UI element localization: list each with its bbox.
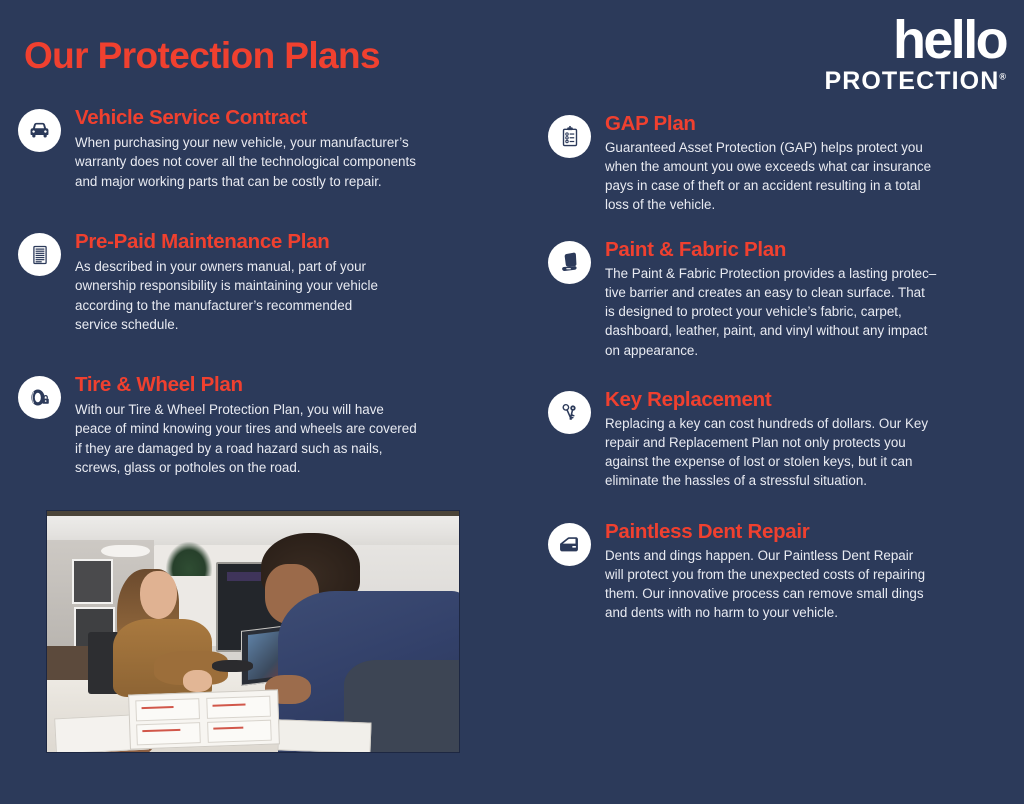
- photo-woman-hand: [183, 670, 212, 692]
- plan-body: Paintless Dent Repair Dents and dings ha…: [605, 521, 1013, 623]
- plan-title: Tire & Wheel Plan: [75, 374, 518, 397]
- protection-plans-page: hello PROTECTION® Our Protection Plans V…: [0, 0, 1024, 804]
- plan-title: Paint & Fabric Plan: [605, 239, 1013, 262]
- photo-content: [47, 511, 459, 752]
- plan-body: Pre-Paid Maintenance Plan As described i…: [75, 231, 518, 335]
- plan-body: Vehicle Service Contract When purchasing…: [75, 107, 518, 191]
- photo-brochure-cell: [136, 722, 201, 745]
- registered-trademark-icon: ®: [999, 72, 1006, 82]
- photo-woman-face: [140, 571, 177, 619]
- plan-title: Paintless Dent Repair: [605, 521, 1013, 544]
- car-front-icon: [18, 109, 61, 152]
- plan-item-tire-and-wheel-plan: Tire & Wheel Plan With our Tire & Wheel …: [18, 374, 518, 478]
- plan-item-paintless-dent-repair: Paintless Dent Repair Dents and dings ha…: [548, 521, 1013, 623]
- plan-title: Pre-Paid Maintenance Plan: [75, 231, 518, 254]
- tire-lock-icon: [18, 376, 61, 419]
- photo-pendant-lamp: [101, 545, 150, 557]
- photo-monitor-glow: [227, 572, 260, 581]
- photo-brochure: [128, 690, 280, 750]
- plan-title: GAP Plan: [605, 113, 1013, 136]
- car-seat-icon: [548, 241, 591, 284]
- photo-brochure-cell: [136, 699, 201, 722]
- plan-description: The Paint & Fabric Protection provides a…: [605, 264, 1013, 360]
- plan-item-paint-and-fabric-plan: Paint & Fabric Plan The Paint & Fabric P…: [548, 239, 1013, 360]
- dealership-consultation-photo: [47, 511, 459, 752]
- plan-item-key-replacement: Key Replacement Replacing a key can cost…: [548, 389, 1013, 491]
- plan-description: With our Tire & Wheel Protection Plan, y…: [75, 400, 518, 478]
- page-title: Our Protection Plans: [24, 36, 380, 77]
- plan-description: Dents and dings happen. Our Paintless De…: [605, 546, 1013, 623]
- plan-description: When purchasing your new vehicle, your m…: [75, 133, 518, 191]
- plan-body: Paint & Fabric Plan The Paint & Fabric P…: [605, 239, 1013, 360]
- plan-body: Tire & Wheel Plan With our Tire & Wheel …: [75, 374, 518, 478]
- logo-sub-text: PROTECTION: [824, 67, 999, 95]
- plan-title: Vehicle Service Contract: [75, 107, 518, 130]
- plan-body: Key Replacement Replacing a key can cost…: [605, 389, 1013, 491]
- plan-item-vehicle-service-contract: Vehicle Service Contract When purchasing…: [18, 107, 518, 191]
- photo-sunglasses: [212, 660, 253, 672]
- car-door-icon: [548, 523, 591, 566]
- logo-subwordmark: PROTECTION®: [824, 69, 1006, 94]
- keys-icon: [548, 391, 591, 434]
- logo-wordmark: hello: [824, 14, 1006, 67]
- plan-title: Key Replacement: [605, 389, 1013, 412]
- clipboard-checklist-icon: [548, 115, 591, 158]
- photo-wall-frame-1: [72, 559, 113, 604]
- photo-paper-right: [277, 719, 371, 752]
- photo-ceiling-strip: [47, 511, 459, 516]
- manual-document-icon: [18, 233, 61, 276]
- hello-protection-logo: hello PROTECTION®: [824, 14, 1006, 94]
- plan-item-pre-paid-maintenance-plan: Pre-Paid Maintenance Plan As described i…: [18, 231, 518, 335]
- photo-brochure-cell: [207, 696, 272, 719]
- plan-description: As described in your owners manual, part…: [75, 257, 518, 335]
- plan-description: Guaranteed Asset Protection (GAP) helps …: [605, 138, 1013, 215]
- plan-body: GAP Plan Guaranteed Asset Protection (GA…: [605, 113, 1013, 215]
- photo-brochure-cell: [208, 719, 273, 742]
- plan-item-gap-plan: GAP Plan Guaranteed Asset Protection (GA…: [548, 113, 1013, 215]
- plan-description: Replacing a key can cost hundreds of dol…: [605, 414, 1013, 491]
